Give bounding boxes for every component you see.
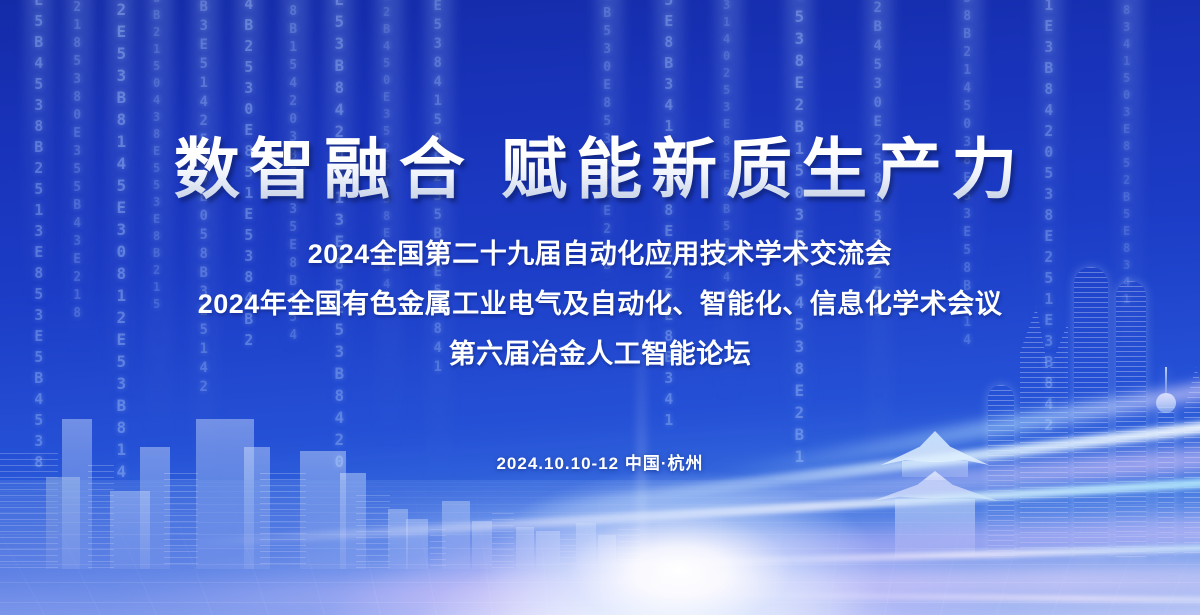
subtitle-line-1: 2024全国第二十九届自动化应用技术学术交流会	[308, 232, 893, 271]
conference-banner: 3E5B4538B2513E853E5B45385B43E2185380E355…	[0, 0, 1200, 615]
subtitle-line-2: 2024年全国有色金属工业电气及自动化、智能化、信息化学术会议	[198, 282, 1003, 321]
date-location-label: 2024.10.10-12 中国·杭州	[496, 449, 703, 474]
banner-text-block: 数智融合 赋能新质生产力 2024全国第二十九届自动化应用技术学术交流会 202…	[0, 0, 1200, 615]
subtitle-line-3: 第六届冶金人工智能论坛	[449, 332, 752, 371]
page-title: 数智融合 赋能新质生产力	[174, 116, 1026, 212]
